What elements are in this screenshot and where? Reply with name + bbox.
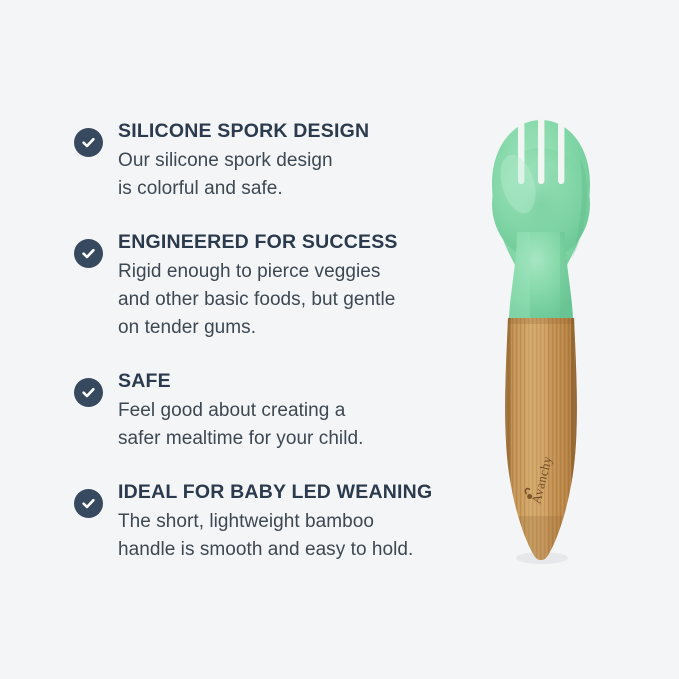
feature-item: IDEAL FOR BABY LED WEANING The short, li… [74,479,464,564]
check-circle-icon [74,378,103,407]
feature-item: SAFE Feel good about creating a safer me… [74,368,464,453]
feature-line: Feel good about creating a [118,397,464,425]
feature-description: Our silicone spork design is colorful an… [118,147,464,203]
check-circle-icon [74,239,103,268]
feature-description: The short, lightweight bamboo handle is … [118,508,464,564]
check-circle-icon [74,128,103,157]
feature-line: Rigid enough to pierce veggies [118,258,464,286]
feature-line: Our silicone spork design [118,147,464,175]
feature-description: Feel good about creating a safer mealtim… [118,397,464,453]
feature-line: The short, lightweight bamboo [118,508,464,536]
feature-title: ENGINEERED FOR SUCCESS [118,229,464,257]
check-circle-icon [74,489,103,518]
feature-line: and other basic foods, but gentle [118,286,464,314]
feature-item: SILICONE SPORK DESIGN Our silicone spork… [74,118,464,203]
feature-title: SAFE [118,368,464,396]
product-image-spork: Avanchy [484,112,600,564]
feature-description: Rigid enough to pierce veggies and other… [118,258,464,342]
feature-title: SILICONE SPORK DESIGN [118,118,464,146]
feature-title: IDEAL FOR BABY LED WEANING [118,479,464,507]
feature-line: safer mealtime for your child. [118,425,464,453]
silicone-head [492,116,590,323]
feature-line: on tender gums. [118,314,464,342]
bamboo-handle: Avanchy [502,312,582,564]
feature-list: SILICONE SPORK DESIGN Our silicone spork… [74,118,464,564]
feature-line: is colorful and safe. [118,175,464,203]
feature-line: handle is smooth and easy to hold. [118,536,464,564]
feature-item: ENGINEERED FOR SUCCESS Rigid enough to p… [74,229,464,342]
product-feature-infographic: SILICONE SPORK DESIGN Our silicone spork… [0,0,679,679]
